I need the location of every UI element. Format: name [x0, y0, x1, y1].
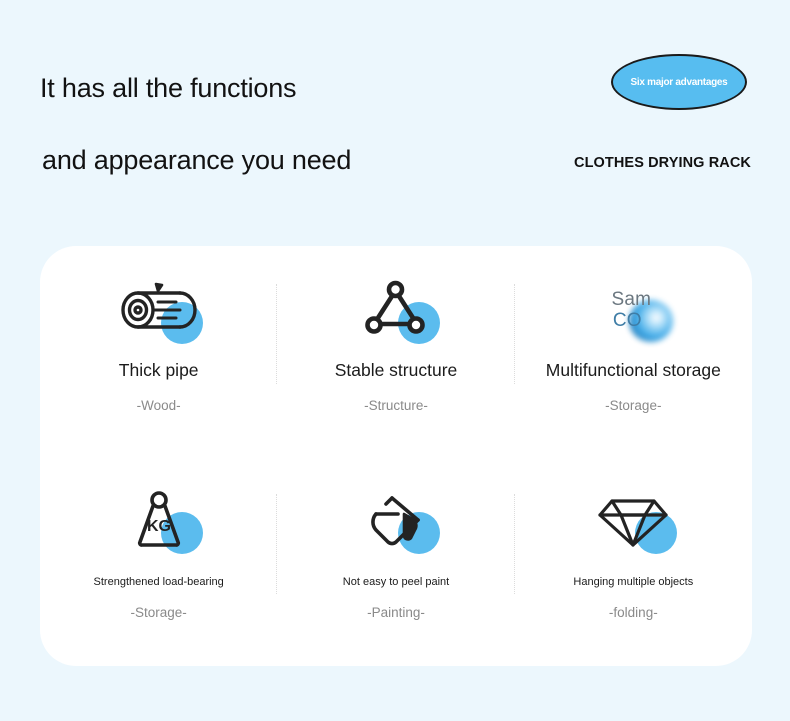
feature-subtitle: -folding-	[609, 605, 658, 620]
diamond-icon	[587, 484, 679, 556]
features-grid: Thick pipe -Wood- Stable structure -Stru…	[40, 246, 752, 666]
headline-line-2: and appearance you need	[40, 124, 560, 196]
samco-text-bottom: CO	[613, 311, 642, 330]
feature-subtitle: -Structure-	[364, 398, 428, 413]
feature-title: Hanging multiple objects	[573, 576, 693, 588]
page-headline: It has all the functions and appearance …	[40, 52, 560, 196]
samco-text-top: Sam	[611, 290, 651, 309]
headline-line-1: It has all the functions	[40, 52, 560, 124]
feature-cell-hanging-objects[interactable]: Hanging multiple objects -folding-	[515, 456, 752, 666]
feature-cell-multifunctional-storage[interactable]: Sam CO Multifunctional storage -Storage-	[515, 246, 752, 456]
kg-weight-icon: KG	[113, 484, 205, 556]
feature-cell-peel-paint[interactable]: Not easy to peel paint -Painting-	[277, 456, 514, 666]
wood-log-icon	[113, 274, 205, 346]
paint-bucket-icon	[350, 484, 442, 556]
feature-subtitle: -Painting-	[367, 605, 425, 620]
feature-cell-thick-pipe[interactable]: Thick pipe -Wood-	[40, 246, 277, 456]
feature-title: Multifunctional storage	[546, 360, 721, 381]
brand-line: CLOTHES DRYING RACK	[574, 155, 774, 171]
feature-subtitle: -Storage-	[605, 398, 661, 413]
six-major-advantages-badge: Six major advantages	[611, 54, 747, 110]
samco-logo-icon: Sam CO	[587, 274, 679, 346]
features-card: Thick pipe -Wood- Stable structure -Stru…	[40, 246, 752, 666]
feature-title: Thick pipe	[119, 360, 199, 381]
feature-cell-load-bearing[interactable]: KG Strengthened load-bearing -Storage-	[40, 456, 277, 666]
feature-cell-stable-structure[interactable]: Stable structure -Structure-	[277, 246, 514, 456]
feature-title: Stable structure	[335, 360, 458, 381]
badge-label: Six major advantages	[631, 76, 728, 88]
kg-label: KG	[147, 518, 171, 535]
samco-logo: Sam CO	[587, 274, 679, 346]
node-triangle-icon	[350, 274, 442, 346]
feature-title: Not easy to peel paint	[343, 576, 449, 588]
feature-subtitle: -Storage-	[131, 605, 187, 620]
feature-title: Strengthened load-bearing	[94, 576, 224, 588]
feature-subtitle: -Wood-	[137, 398, 181, 413]
